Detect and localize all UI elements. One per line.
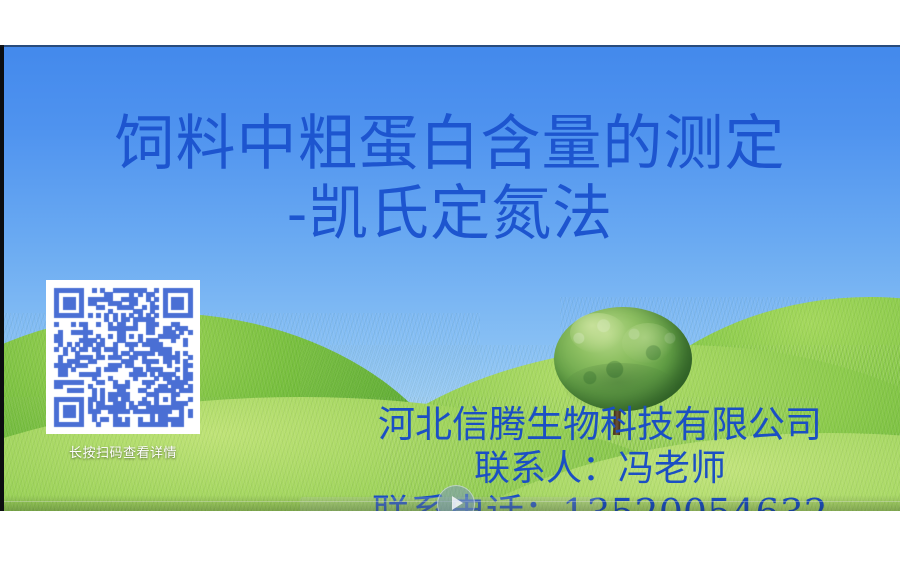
title-line-1: 饲料中粗蛋白含量的测定 — [0, 109, 900, 179]
slide-title: 饲料中粗蛋白含量的测定 -凯氏定氮法 — [0, 109, 900, 249]
qr-code-image[interactable] — [46, 280, 200, 434]
play-triangle-icon — [452, 496, 463, 510]
screen: 饲料中粗蛋白含量的测定 -凯氏定氮法 河北信腾生物科技有限公司 联系人：冯老师 … — [0, 0, 900, 561]
qr-code-block[interactable]: 长按扫码查看详情 — [46, 280, 200, 462]
contact-person: 联系人：冯老师 — [300, 447, 900, 491]
tree-canopy-foliage — [554, 307, 692, 411]
video-frame-top-edge — [0, 45, 900, 47]
video-frame-left-edge — [0, 45, 4, 511]
video-player-stage[interactable]: 饲料中粗蛋白含量的测定 -凯氏定氮法 河北信腾生物科技有限公司 联系人：冯老师 … — [0, 45, 900, 511]
title-line-2: -凯氏定氮法 — [0, 179, 900, 249]
qr-code-caption: 长按扫码查看详情 — [46, 446, 200, 462]
company-name: 河北信腾生物科技有限公司 — [300, 403, 900, 447]
